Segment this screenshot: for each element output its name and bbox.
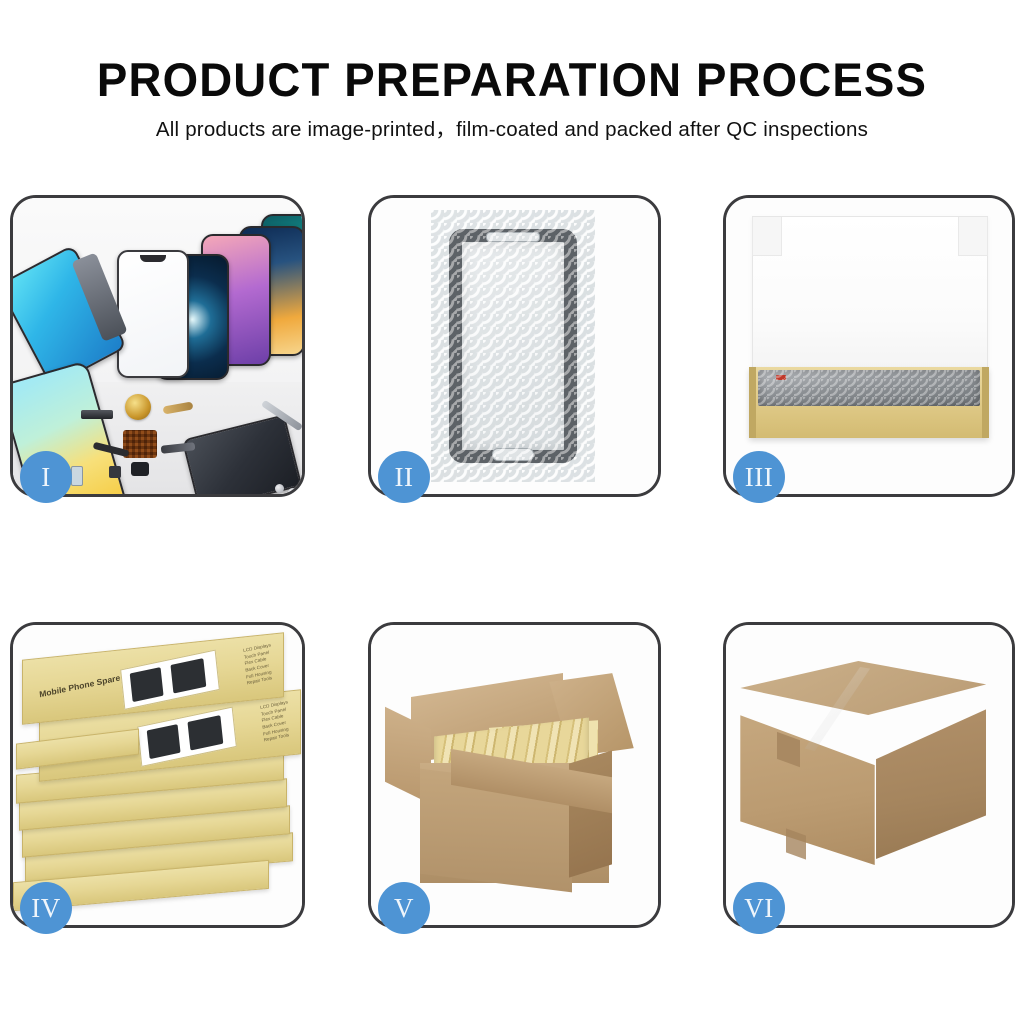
step-3-image [726, 198, 1012, 494]
sim-tray-part [71, 466, 83, 486]
step-panel-4: Mobile Phone Spare Parts LCD DisplaysTou… [10, 622, 305, 928]
step-2-image [371, 198, 658, 494]
box-window-screen-a [147, 724, 181, 759]
step-badge-5: V [378, 882, 430, 934]
step-6-image [726, 625, 1012, 925]
step-badge-2: II [378, 451, 430, 503]
step-panel-6: VI [723, 622, 1015, 928]
tray-side-right [982, 367, 989, 438]
carton-right-face [569, 750, 612, 877]
tray-side-left [749, 367, 756, 438]
camera-module-part [131, 462, 149, 476]
step-panel-3: III [723, 195, 1015, 497]
box-window-2 [137, 706, 236, 766]
step-1-image [13, 198, 302, 494]
step-panel-2: II [368, 195, 661, 497]
step-panel-1: I [10, 195, 305, 497]
bubble-wrap-sheet [431, 210, 595, 482]
phone-glass-panel [117, 250, 189, 378]
coil-part [125, 394, 151, 420]
step-4-image: Mobile Phone Spare Parts LCD DisplaysTou… [13, 625, 302, 925]
step-5-image [371, 625, 658, 925]
button-part [109, 466, 121, 478]
box-lid [752, 216, 989, 390]
box-spec-list-2: LCD DisplaysTouch PanelFlex CableBack Co… [260, 699, 292, 744]
earpiece-cutout [486, 232, 540, 242]
box-window-screen-d [170, 658, 207, 693]
box-spec-list-1: LCD DisplaysTouch PanelFlex CableBack Co… [243, 642, 275, 687]
wrapped-screen [449, 229, 577, 463]
home-button-cutout [492, 448, 534, 461]
screws-part [275, 484, 301, 494]
step-badge-1: I [20, 451, 72, 503]
red-label-mark [776, 375, 786, 380]
screen-in-box [758, 370, 979, 406]
infographic-page: PRODUCT PREPARATION PROCESS All products… [0, 0, 1024, 1024]
page-subtitle: All products are image-printed，film-coat… [0, 112, 1024, 142]
box-window-screen-c [130, 667, 164, 702]
step-badge-3: III [733, 451, 785, 503]
speaker-part [81, 410, 113, 419]
box-window-1 [120, 649, 219, 709]
box-window-screen-b [187, 715, 224, 750]
step-badge-4: IV [20, 882, 72, 934]
step-panel-5: V [368, 622, 661, 928]
sealed-carton-right-face [869, 703, 986, 859]
step-badge-6: VI [733, 882, 785, 934]
sealed-carton-left-face [740, 709, 874, 865]
kraft-box-tray [749, 367, 989, 438]
page-title: PRODUCT PREPARATION PROCESS [15, 52, 1008, 107]
